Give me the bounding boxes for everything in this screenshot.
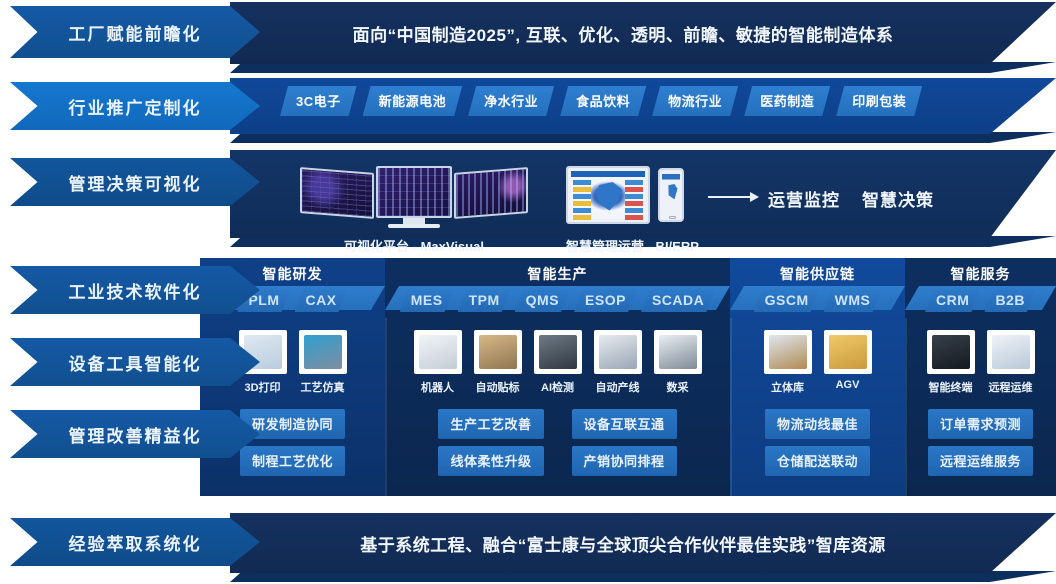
- system-chip[interactable]: QMS: [515, 289, 570, 312]
- icon-caption: AGV: [823, 379, 873, 391]
- maxvisual-group[interactable]: 可视化平台 - MaxVisual: [300, 166, 528, 255]
- outcome-tag-list: 生产工艺改善设备互联互通线体柔性升级产销协同排程: [385, 409, 730, 476]
- capability-icon-item[interactable]: 自动产线: [593, 330, 643, 395]
- capability-icon-item[interactable]: 工艺仿真: [298, 330, 348, 395]
- system-chip[interactable]: ESOP: [574, 289, 637, 312]
- column-title: 智能供应链: [730, 258, 905, 284]
- capability-column: 智能生产MESTPMQMSESOPSCADA机器人自动贴标AI检测自动产线数采生…: [385, 258, 730, 496]
- row-3-label-chevron[interactable]: 管理决策可视化: [10, 158, 260, 206]
- icon-art: [599, 335, 637, 369]
- capability-icon-item[interactable]: 数采: [653, 330, 703, 395]
- system-list: CRMB2B: [905, 289, 1056, 312]
- capability-icon-item[interactable]: AGV: [823, 330, 873, 395]
- icon-caption: 3D打印: [238, 379, 288, 395]
- bi-erp-caption: 智慧管理运营 - BI/ERP: [566, 236, 699, 255]
- outcome-tag[interactable]: 物流动线最佳: [765, 409, 870, 439]
- system-chip[interactable]: TPM: [458, 289, 511, 312]
- icon-caption: 数采: [653, 379, 703, 395]
- remote-ops-icon: [987, 330, 1035, 374]
- industry-pill-list: 3C电子新能源电池净水行业食品饮料物流行业医药制造印刷包装: [280, 86, 922, 116]
- icon-caption: 机器人: [413, 379, 463, 395]
- icon-art: [304, 335, 342, 369]
- icon-caption: 立体库: [763, 379, 813, 395]
- tablet-right-tiles: [625, 180, 643, 220]
- outcome-group: 运营监控 智慧决策: [768, 186, 934, 211]
- monitor-base: [388, 224, 440, 228]
- row-7-band: 基于系统工程、融合“富士康与全球顶尖合作伙伴最佳实践”智库资源: [230, 513, 1056, 573]
- tablet-icon: [566, 166, 650, 224]
- icon-art: [932, 335, 970, 369]
- column-separator: [730, 318, 732, 496]
- capability-icon-item[interactable]: 机器人: [413, 330, 463, 395]
- icon-art: [419, 335, 457, 369]
- auto-production-line-icon: [594, 330, 642, 374]
- outcome-tag[interactable]: 产销协同排程: [572, 446, 677, 476]
- capability-icon-item[interactable]: 智能终端: [926, 330, 976, 395]
- stereo-warehouse-icon: [764, 330, 812, 374]
- outcome-tag[interactable]: 生产工艺改善: [438, 409, 543, 439]
- smart-manufacturing-diagram: 面向“中国制造2025”, 互联、优化、透明、前瞻、敏捷的智能制造体系 工厂赋能…: [0, 0, 1056, 584]
- row-7-label-chevron[interactable]: 经验萃取系统化: [10, 518, 260, 566]
- capability-icon-item[interactable]: 立体库: [763, 330, 813, 395]
- flow-arrow: [708, 192, 759, 202]
- capability-column: 智能服务CRMB2B智能终端远程运维订单需求预测远程运维服务: [905, 258, 1056, 496]
- monitor-right-screen: [456, 169, 526, 217]
- icon-caption: 远程运维: [986, 379, 1036, 395]
- outcome-tag[interactable]: 远程运维服务: [928, 446, 1033, 476]
- system-chip[interactable]: MES: [400, 289, 454, 312]
- row-5-label-chevron[interactable]: 设备工具智能化: [10, 338, 260, 386]
- agv-icon: [824, 330, 872, 374]
- bi-erp-group[interactable]: 智慧管理运营 - BI/ERP: [566, 166, 699, 255]
- capability-column: 智能供应链GSCMWMS立体库AGV物流动线最佳仓储配送联动: [730, 258, 905, 496]
- outcome-tag[interactable]: 线体柔性升级: [438, 446, 543, 476]
- row-6-label-chevron[interactable]: 管理改善精益化: [10, 410, 260, 458]
- capability-icon-item[interactable]: AI检测: [533, 330, 583, 395]
- row-2-label-chevron[interactable]: 行业推广定制化: [10, 82, 260, 130]
- icon-art: [829, 335, 867, 369]
- outcome-tag[interactable]: 制程工艺优化: [240, 446, 345, 476]
- icon-caption: 自动产线: [593, 379, 643, 395]
- ai-inspection-icon: [534, 330, 582, 374]
- system-list: GSCMWMS: [730, 289, 905, 312]
- column-separator: [905, 318, 907, 496]
- outcome-tag-row: 生产工艺改善设备互联互通: [438, 409, 676, 439]
- system-chip[interactable]: CAX: [295, 289, 348, 312]
- arrow-line: [708, 196, 750, 198]
- icon-list: 立体库AGV: [730, 330, 905, 395]
- row-4-label: 工业技术软件化: [69, 278, 202, 303]
- industry-pill[interactable]: 3C电子: [280, 86, 357, 116]
- robot-arm-icon: [414, 330, 462, 374]
- industry-pill[interactable]: 医药制造: [744, 86, 830, 116]
- icon-caption: 智能终端: [926, 379, 976, 395]
- triple-monitor-icon: [300, 166, 528, 224]
- row-1-label-chevron[interactable]: 工厂赋能前瞻化: [10, 6, 260, 58]
- outcome-tag-list: 订单需求预测远程运维服务: [905, 409, 1056, 476]
- icon-art: [479, 335, 517, 369]
- outcome-tag[interactable]: 设备互联互通: [572, 409, 677, 439]
- capability-columns: 智能研发PLMCAX3D打印工艺仿真研发制造协同制程工艺优化智能生产MESTPM…: [200, 258, 1056, 496]
- phone-home-button: [669, 216, 676, 219]
- column-title: 智能生产: [385, 258, 730, 284]
- tablet-left-tiles: [573, 180, 591, 220]
- system-chip[interactable]: SCADA: [641, 289, 715, 312]
- row-3-label: 管理决策可视化: [69, 170, 202, 195]
- icon-caption: 工艺仿真: [298, 379, 348, 395]
- outcome-tag-row: 线体柔性升级产销协同排程: [438, 446, 676, 476]
- row-7-statement: 基于系统工程、融合“富士康与全球顶尖合作伙伴最佳实践”智库资源: [230, 513, 1056, 573]
- tablet-phone-icon: [566, 166, 686, 224]
- monitor-left-screen: [302, 169, 372, 217]
- industry-pill[interactable]: 物流行业: [652, 86, 738, 116]
- maxvisual-caption: 可视化平台 - MaxVisual: [300, 236, 528, 255]
- row-2-label: 行业推广定制化: [69, 94, 202, 119]
- industry-pill[interactable]: 新能源电池: [363, 86, 463, 116]
- icon-art: [769, 335, 807, 369]
- process-simulation-icon: [299, 330, 347, 374]
- outcome-tag[interactable]: 仓储配送联动: [765, 446, 870, 476]
- industry-pill[interactable]: 印刷包装: [836, 86, 922, 116]
- row-1-label: 工厂赋能前瞻化: [69, 20, 202, 45]
- industry-pill[interactable]: 食品饮料: [560, 86, 646, 116]
- arrow-head-icon: [750, 192, 759, 202]
- outcome-decision: 智慧决策: [862, 186, 934, 211]
- row-4-label-chevron[interactable]: 工业技术软件化: [10, 266, 260, 314]
- industry-pill[interactable]: 净水行业: [468, 86, 554, 116]
- icon-art: [539, 335, 577, 369]
- row-5-label: 设备工具智能化: [69, 350, 202, 375]
- icon-caption: 自动贴标: [473, 379, 523, 395]
- system-list: MESTPMQMSESOPSCADA: [385, 289, 730, 312]
- auto-labeling-icon: [474, 330, 522, 374]
- system-chip[interactable]: WMS: [824, 289, 882, 312]
- monitor-left: [300, 167, 374, 219]
- icon-art: [659, 335, 697, 369]
- smart-terminal-icon: [927, 330, 975, 374]
- monitor-center-screen: [378, 168, 450, 216]
- capability-icon-item[interactable]: 自动贴标: [473, 330, 523, 395]
- outcome-tag-list: 物流动线最佳仓储配送联动: [730, 409, 905, 476]
- row-1-band: 面向“中国制造2025”, 互联、优化、透明、前瞻、敏捷的智能制造体系: [230, 2, 1056, 64]
- icon-list: 机器人自动贴标AI检测自动产线数采: [385, 330, 730, 395]
- monitor-center: [376, 166, 452, 218]
- icon-list: 智能终端远程运维: [905, 330, 1056, 395]
- icon-caption: AI检测: [533, 379, 583, 395]
- capability-icon-item[interactable]: 远程运维: [986, 330, 1036, 395]
- monitor-right: [454, 167, 528, 219]
- column-title: 智能服务: [905, 258, 1056, 284]
- row-1-statement: 面向“中国制造2025”, 互联、优化、透明、前瞻、敏捷的智能制造体系: [230, 2, 1056, 64]
- system-chip[interactable]: CRM: [925, 289, 980, 312]
- data-acquisition-icon: [654, 330, 702, 374]
- row-7-label: 经验萃取系统化: [69, 530, 202, 555]
- phone-icon: [658, 168, 684, 222]
- column-separator: [385, 318, 387, 496]
- icon-art: [992, 335, 1030, 369]
- system-chip[interactable]: GSCM: [754, 289, 820, 312]
- outcome-tag[interactable]: 订单需求预测: [928, 409, 1033, 439]
- row-6-label: 管理改善精益化: [69, 422, 202, 447]
- outcome-monitoring: 运营监控: [768, 186, 840, 211]
- system-chip[interactable]: B2B: [984, 289, 1036, 312]
